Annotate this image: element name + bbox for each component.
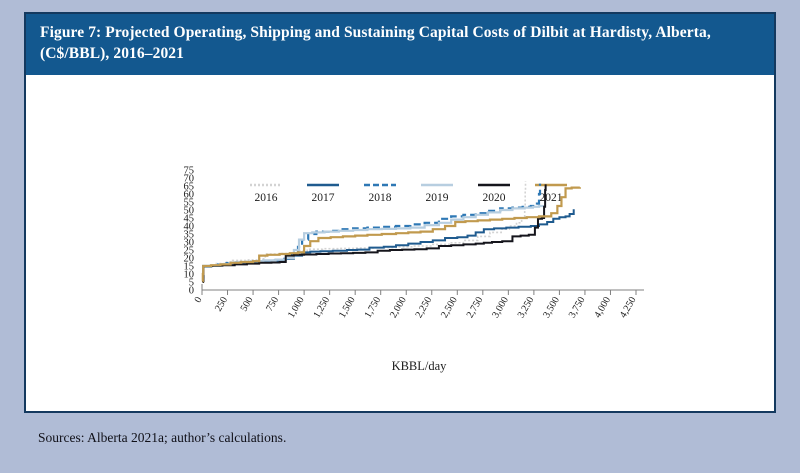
legend-label-2017: 2017 [312,192,335,204]
x-tick-3,500: 3,500 [541,295,562,320]
legend-label-2021: 2021 [540,192,563,204]
x-tick-1,000: 1,000 [286,295,307,320]
y-axis: 051015202530354045505560657075 [184,165,195,296]
y-tick-75: 75 [184,165,195,176]
series-line-2017 [203,209,574,277]
x-tick-0: 0 [193,295,205,305]
figure-title-line-1: Figure 7: Projected Operating, Shipping … [40,22,760,43]
legend-label-2016: 2016 [255,192,278,204]
chart-canvas: 2016201720182019202020210510152025303540… [26,75,774,397]
figure-title-bar: Figure 7: Projected Operating, Shipping … [26,14,774,75]
x-tick-4,250: 4,250 [618,295,639,320]
x-tick-1,500: 1,500 [337,295,358,320]
x-tick-2,000: 2,000 [388,295,409,320]
x-tick-2,750: 2,750 [465,295,486,320]
chart-legend: 201620172018201920202021 [250,185,567,204]
x-tick-2,250: 2,250 [414,295,435,320]
sources-note: Sources: Alberta 2021a; author’s calcula… [24,415,776,461]
sources-text: Sources: Alberta 2021a; author’s calcula… [38,430,286,446]
x-tick-2,500: 2,500 [439,295,460,320]
x-tick-3,000: 3,000 [490,295,511,320]
x-tick-500: 500 [239,295,256,313]
x-tick-4,000: 4,000 [592,295,613,320]
figure-title-line-2: (C$/BBL), 2016–2021 [40,43,760,64]
x-tick-1,250: 1,250 [311,295,332,320]
legend-label-2019: 2019 [426,192,449,204]
legend-label-2020: 2020 [483,192,506,204]
x-tick-250: 250 [213,295,230,313]
legend-label-2018: 2018 [369,192,392,204]
figure-container: Figure 7: Projected Operating, Shipping … [24,12,776,413]
x-tick-750: 750 [264,295,281,313]
x-tick-3,250: 3,250 [516,295,537,320]
x-axis-title: KBBL/day [392,359,448,373]
x-axis: 02505007501,0001,2501,5001,7502,0002,250… [193,290,644,320]
x-tick-3,750: 3,750 [567,295,588,320]
x-tick-1,750: 1,750 [363,295,384,320]
line-chart: 2016201720182019202020210510152025303540… [26,75,774,397]
